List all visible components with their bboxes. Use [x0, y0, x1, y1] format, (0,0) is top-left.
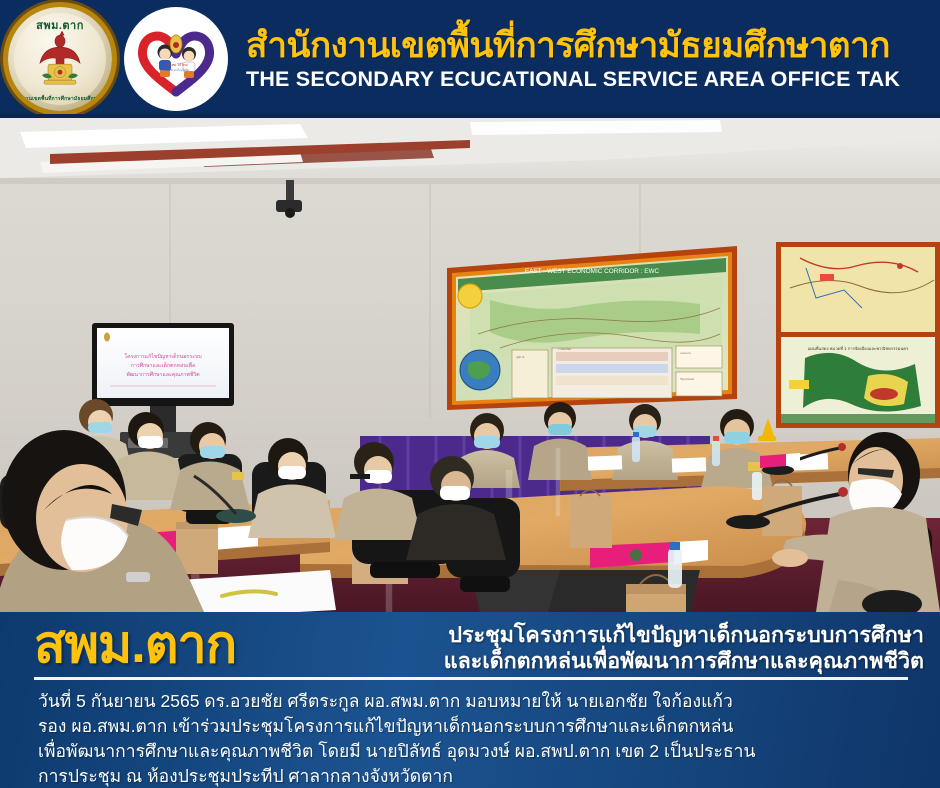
water-bottle: [632, 432, 640, 462]
garuda-emblem-icon: [34, 31, 86, 89]
heart-children-logo: เด็กไทย วิถีใหม่ ปลอดภัย ห่างไกลโควิด: [124, 7, 228, 111]
page-header: สพม.ตาก สำนักงานเขตพื้นที่การ: [0, 0, 940, 118]
news-card: สพม.ตาก สำนักงานเขตพื้นที่การ: [0, 0, 940, 788]
svg-text:พัฒนาการศึกษาและคุณภาพชีวิต: พัฒนาการศึกษาและคุณภาพชีวิต: [126, 371, 199, 378]
screen-title-text: โครงการแก้ไขปัญหาเด็กนอกระบบ การศึกษาและ…: [124, 352, 201, 378]
wall-map-title: EAST - WEST ECONOMIC CORRIDOR : EWC: [525, 268, 660, 275]
caption-divider: [34, 677, 908, 680]
headline-group: ประชุมโครงการแก้ไขปัญหาเด็กนอกระบบการศึก…: [250, 618, 924, 674]
svg-text:ปลอดภัย ห่างไกลโควิด: ปลอดภัย ห่างไกลโควิด: [163, 68, 189, 72]
headline-line-1: ประชุมโครงการแก้ไขปัญหาเด็กนอกระบบการศึก…: [250, 622, 924, 648]
brand-label: สพม.ตาก: [16, 618, 236, 671]
center-emblem-icon: [170, 35, 182, 53]
caption-panel: สพม.ตาก ประชุมโครงการแก้ไขปัญหาเด็กนอกระ…: [0, 612, 940, 788]
caption-body: วันที่ 5 กันยายน 2565 ดร.อวยชัย ศรีตระกู…: [38, 689, 924, 788]
page-title-english: THE SECONDARY ECUCATIONAL SERVICE AREA O…: [246, 68, 900, 92]
page-title-thai: สำนักงานเขตพื้นที่การศึกษามัธยมศึกษาตาก: [246, 28, 900, 65]
boy-figure-left: [158, 45, 173, 78]
headline-line-2: และเด็กตกหล่นเพื่อพัฒนาการศึกษาและคุณภาพ…: [250, 648, 924, 674]
meeting-photo-illustration: โครงการแก้ไขปัญหาเด็กนอกระบบ การศึกษาและ…: [0, 118, 940, 612]
body-line-2: รอง ผอ.สพม.ตาก เข้าร่วมประชุมโครงการแก้ไ…: [38, 714, 924, 739]
screen-emblem-icon: [104, 333, 110, 342]
svg-text:หน่วยงาน: หน่วยงาน: [680, 352, 691, 355]
meeting-photo: โครงการแก้ไขปัญหาเด็กนอกระบบ การศึกษาและ…: [0, 118, 940, 612]
body-line-3: เพื่อพัฒนาการศึกษาและคุณภาพชีวิต โดยมี น…: [38, 739, 924, 764]
wall-map-right-bottom: แผนที่แสดง หมวดที่ 1 การจัดเมืองและพาณิช…: [776, 332, 940, 428]
royal-seal-logo: สพม.ตาก สำนักงานเขตพื้นที่การ: [8, 7, 112, 111]
wall-map-right-top: [776, 242, 940, 338]
svg-text:โครงการแก้ไขปัญหาเด็กนอกระบบ: โครงการแก้ไขปัญหาเด็กนอกระบบ: [124, 352, 201, 360]
header-title-group: สำนักงานเขตพื้นที่การศึกษามัธยมศึกษาตาก …: [246, 26, 900, 91]
caption-header: สพม.ตาก ประชุมโครงการแก้ไขปัญหาเด็กนอกระ…: [16, 618, 924, 674]
svg-text:ภูมิภาค: ภูมิภาค: [516, 355, 525, 359]
svg-text:แผนที่แสดง หมวดที่ 1 การจัดเมื: แผนที่แสดง หมวดที่ 1 การจัดเมืองและพาณิช…: [808, 345, 909, 351]
svg-text:การศึกษาและเด็กตกหล่นเพื่อ: การศึกษาและเด็กตกหล่นเพื่อ: [131, 361, 195, 369]
wall-map-large: EAST - WEST ECONOMIC CORRIDOR : EWC: [447, 246, 737, 410]
svg-text:รายละเอียด: รายละเอียด: [558, 347, 571, 351]
heart-logo-icon: เด็กไทย วิถีใหม่ ปลอดภัย ห่างไกลโควิด: [133, 16, 219, 102]
body-line-4: การประชุม ณ ห้องประชุมประทีป ศาลากลางจัง…: [38, 764, 924, 788]
seal-bottom-label: สำนักงานเขตพื้นที่การศึกษามัธยมศึกษาตาก: [8, 95, 112, 103]
water-bottle: [712, 436, 720, 466]
body-line-1: วันที่ 5 กันยายน 2565 ดร.อวยชัย ศรีตระกู…: [38, 689, 924, 714]
